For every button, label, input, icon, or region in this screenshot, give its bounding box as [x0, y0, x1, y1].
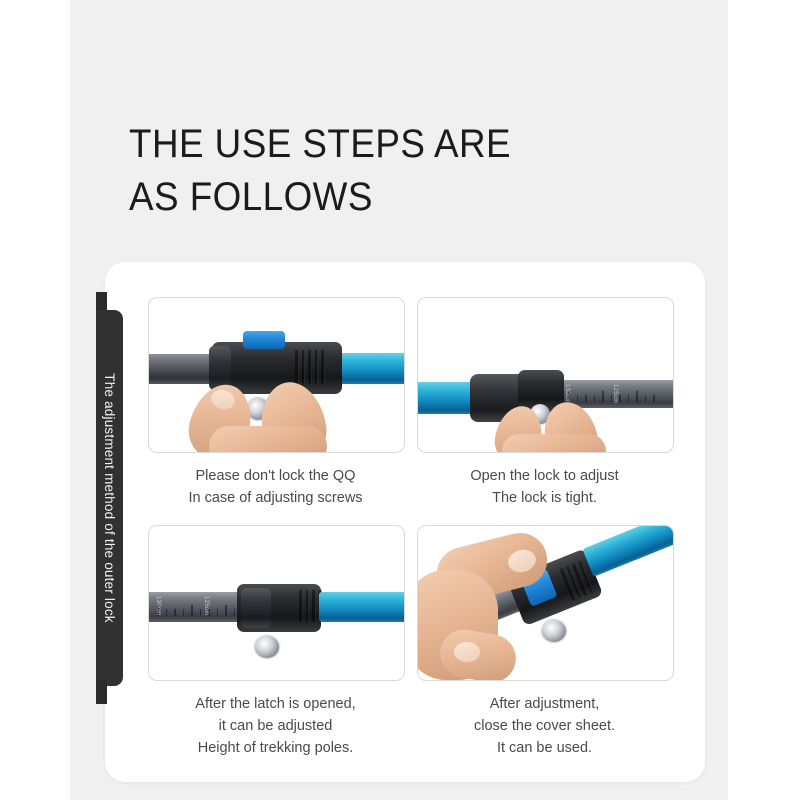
photo-step-2-open-lock: 130cm 125cm: [417, 297, 674, 453]
blue-latch-closed: [243, 331, 285, 349]
palm: [502, 434, 606, 453]
step-1: Please don't lock the QQ In case of adju…: [148, 297, 403, 509]
page-title: THE USE STEPS ARE AS FOLLOWS: [129, 118, 607, 224]
blue-latch-head: [520, 306, 558, 322]
adjusting-screw: [542, 620, 566, 642]
ribbon-label: The adjustment method of the outer lock: [96, 310, 123, 686]
step-3: 130cm 125cm After the latch is opened, i…: [148, 525, 403, 755]
scale-ticks: [157, 604, 235, 616]
step-1-caption: Please don't lock the QQ In case of adju…: [148, 465, 403, 509]
infographic-page: THE USE STEPS ARE AS FOLLOWS The adjustm…: [0, 0, 800, 800]
steps-grid: Please don't lock the QQ In case of adju…: [148, 297, 672, 767]
photo-step-3-latch-opened: 130cm 125cm: [148, 525, 405, 681]
adjusting-screw: [255, 636, 279, 658]
lock-collar: [209, 346, 231, 390]
scale-label-125: 125cm: [203, 596, 209, 616]
step-2: 130cm 125cm Open the lock to adjust The …: [417, 297, 672, 509]
pole-segment-cyan: [417, 382, 478, 414]
step-3-caption: After the latch is opened, it can be adj…: [148, 693, 403, 759]
pole-segment-cyan: [337, 353, 405, 384]
scale-label-125: 125cm: [612, 384, 618, 404]
pole-segment-cyan: [582, 525, 674, 577]
blue-latch-head: [251, 534, 285, 550]
lock-collar: [241, 588, 271, 628]
step-4: After adjustment, close the cover sheet.…: [417, 525, 672, 755]
palm: [209, 426, 327, 453]
fingernail-thumb: [454, 642, 480, 662]
step-4-caption: After adjustment, close the cover sheet.…: [417, 693, 672, 759]
lock-grip-ribs: [295, 350, 329, 384]
step-2-caption: Open the lock to adjust The lock is tigh…: [417, 465, 672, 509]
scale-label-130: 130cm: [155, 596, 161, 616]
side-ribbon-tab: The adjustment method of the outer lock: [96, 292, 123, 704]
pole-segment-cyan: [319, 592, 405, 622]
photo-step-4-close-cover: [417, 525, 674, 681]
photo-step-1-adjust-screw: [148, 297, 405, 453]
scale-label-130: 130cm: [564, 384, 570, 404]
